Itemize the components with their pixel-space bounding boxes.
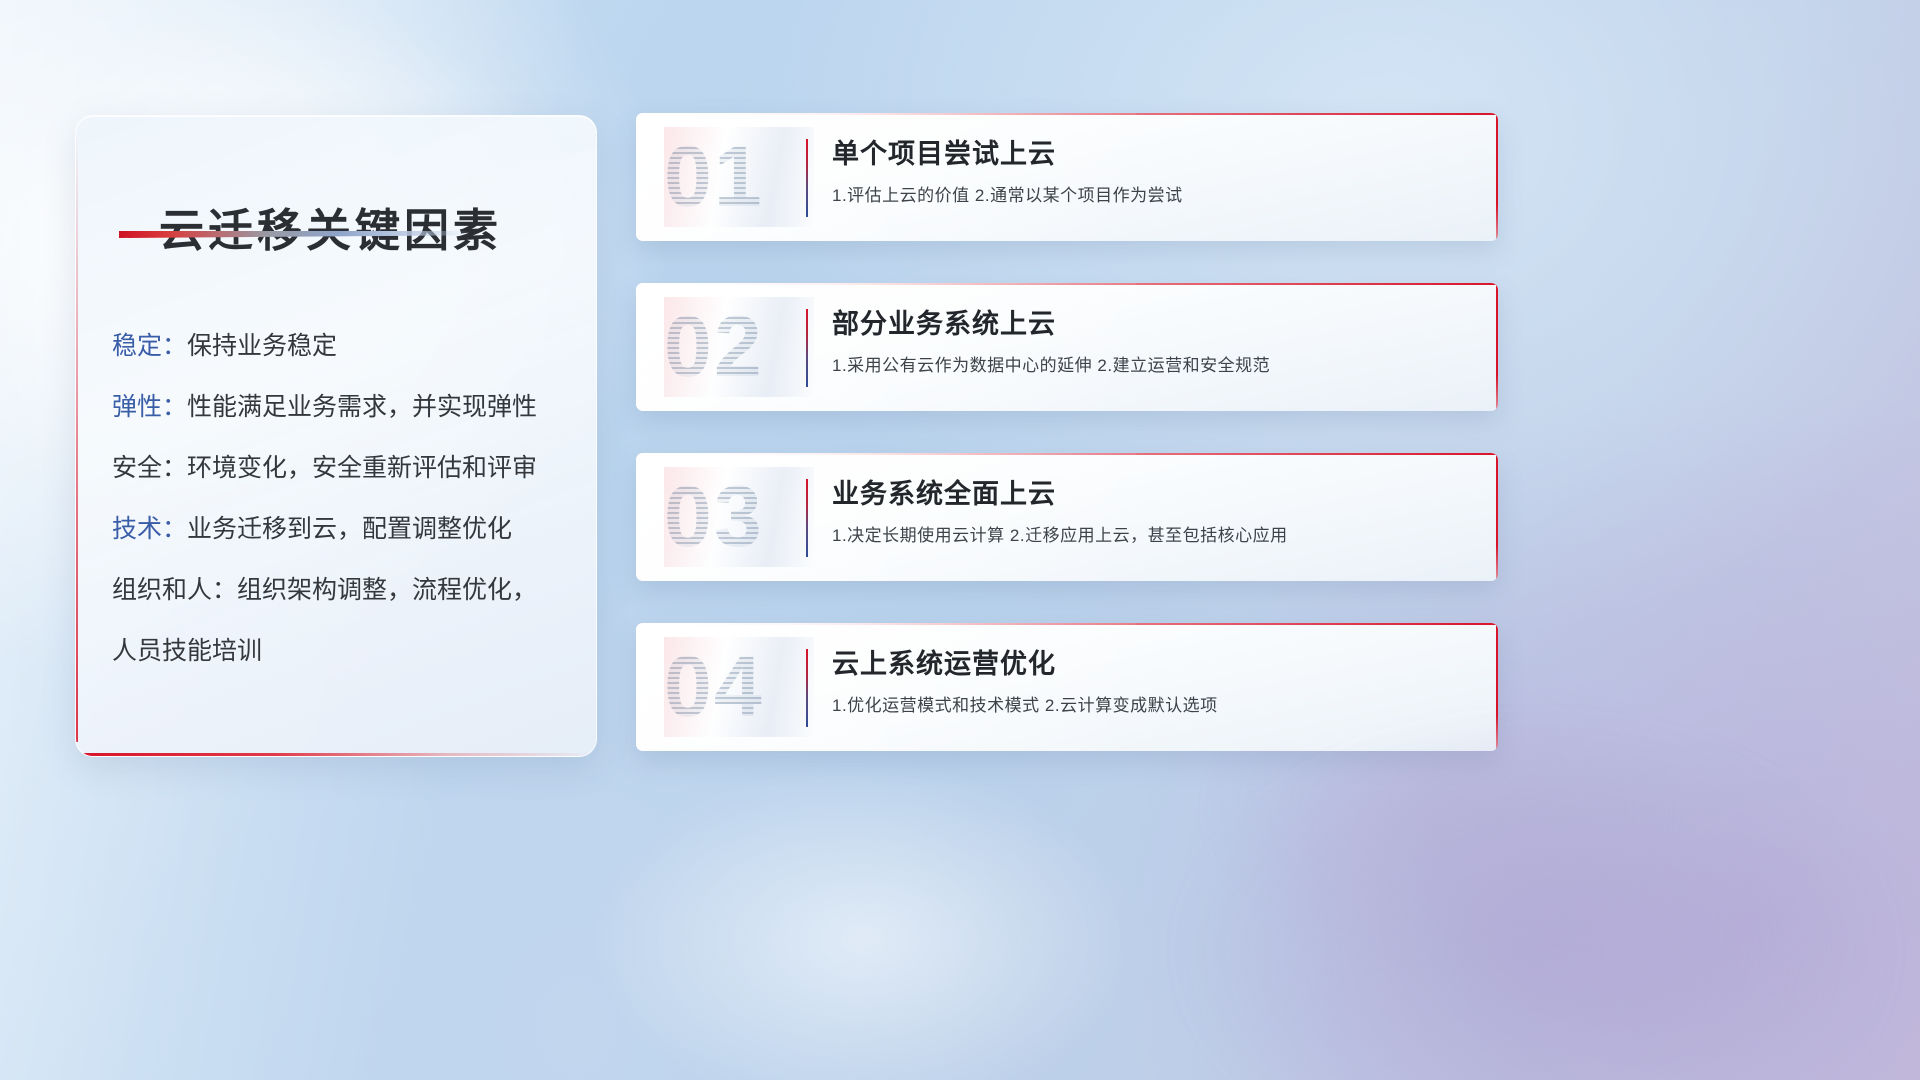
factor-label: 弹性：	[112, 393, 187, 421]
factor-value: 组织架构调整，流程优化，	[237, 576, 537, 604]
background-highlight-purple	[1114, 594, 1767, 1026]
factor-row: 弹性：性能满足业务需求，并实现弹性	[112, 377, 572, 438]
page-title: 云迁移关键因素	[159, 194, 502, 259]
card-accent-bar	[806, 139, 808, 217]
factor-label: 组织和人：	[112, 576, 237, 604]
card-text-block: 业务系统全面上云1.决定长期使用云计算 2.迁移应用上云，甚至包括核心应用	[832, 475, 1472, 549]
factor-value: 业务迁移到云，配置调整优化	[187, 515, 512, 543]
card-text-block: 单个项目尝试上云1.评估上云的价值 2.通常以某个项目作为尝试	[832, 135, 1472, 209]
card-subtitle: 1.评估上云的价值 2.通常以某个项目作为尝试	[832, 183, 1472, 209]
key-factors-panel: 云迁移关键因素 稳定：保持业务稳定弹性：性能满足业务需求，并实现弹性安全：环境变…	[75, 115, 597, 757]
factor-label: 安全：	[112, 454, 187, 482]
card-subtitle: 1.决定长期使用云计算 2.迁移应用上云，甚至包括核心应用	[832, 523, 1472, 549]
card-title: 云上系统运营优化	[832, 645, 1472, 683]
factor-value: 环境变化，安全重新评估和评审	[187, 454, 537, 482]
card-number: 03	[664, 467, 814, 567]
migration-stage-cards: 0101单个项目尝试上云1.评估上云的价值 2.通常以某个项目作为尝试0202部…	[636, 113, 1498, 793]
card-text-block: 部分业务系统上云1.采用公有云作为数据中心的延伸 2.建立运营和安全规范	[832, 305, 1472, 379]
card-title: 部分业务系统上云	[832, 305, 1472, 343]
card-number: 04	[664, 637, 814, 737]
factor-value: 性能满足业务需求，并实现弹性	[187, 393, 537, 421]
stage-card-04[interactable]: 0404云上系统运营优化1.优化运营模式和技术模式 2.云计算变成默认选项	[636, 623, 1498, 751]
card-number: 01	[664, 127, 814, 227]
stage-card-01[interactable]: 0101单个项目尝试上云1.评估上云的价值 2.通常以某个项目作为尝试	[636, 113, 1498, 241]
factor-row: 人员技能培训	[112, 621, 572, 682]
card-title: 业务系统全面上云	[832, 475, 1472, 513]
card-title: 单个项目尝试上云	[832, 135, 1472, 173]
factor-row: 安全：环境变化，安全重新评估和评审	[112, 438, 572, 499]
card-accent-bar	[806, 649, 808, 727]
card-accent-bar	[806, 479, 808, 557]
slide-canvas: 云迁移关键因素 稳定：保持业务稳定弹性：性能满足业务需求，并实现弹性安全：环境变…	[0, 0, 1920, 1080]
factor-row: 技术：业务迁移到云，配置调整优化	[112, 499, 572, 560]
card-subtitle: 1.采用公有云作为数据中心的延伸 2.建立运营和安全规范	[832, 353, 1472, 379]
factor-row: 稳定：保持业务稳定	[112, 316, 572, 377]
card-text-block: 云上系统运营优化1.优化运营模式和技术模式 2.云计算变成默认选项	[832, 645, 1472, 719]
stage-card-02[interactable]: 0202部分业务系统上云1.采用公有云作为数据中心的延伸 2.建立运营和安全规范	[636, 283, 1498, 411]
card-subtitle: 1.优化运营模式和技术模式 2.云计算变成默认选项	[832, 693, 1472, 719]
factor-label: 技术：	[112, 515, 187, 543]
card-accent-bar	[806, 309, 808, 387]
factor-row: 组织和人：组织架构调整，流程优化，	[112, 560, 572, 621]
factor-value: 人员技能培训	[112, 637, 262, 665]
card-number: 02	[664, 297, 814, 397]
key-factors-list: 稳定：保持业务稳定弹性：性能满足业务需求，并实现弹性安全：环境变化，安全重新评估…	[112, 316, 572, 682]
panel-left-accent-bar	[76, 130, 78, 742]
factor-value: 保持业务稳定	[187, 332, 337, 360]
stage-card-03[interactable]: 0303业务系统全面上云1.决定长期使用云计算 2.迁移应用上云，甚至包括核心应…	[636, 453, 1498, 581]
factor-label: 稳定：	[112, 332, 187, 360]
